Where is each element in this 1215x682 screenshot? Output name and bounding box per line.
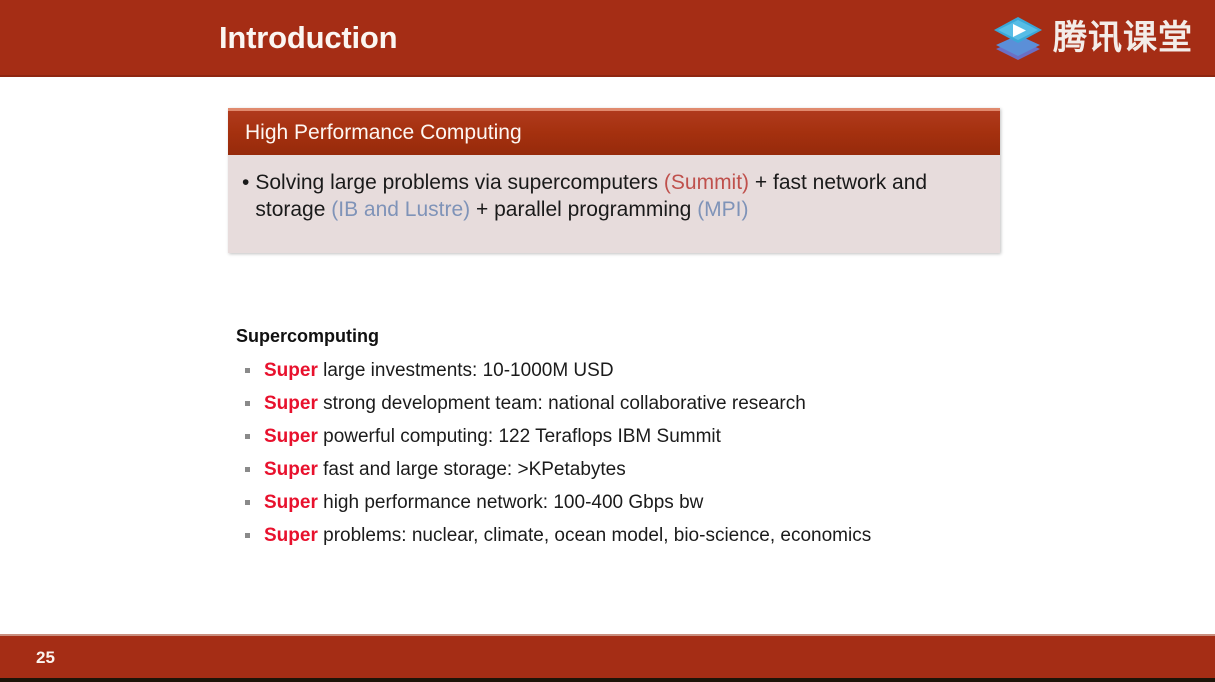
square-bullet-icon bbox=[236, 425, 264, 448]
list-item-text: Super problems: nuclear, climate, ocean … bbox=[264, 524, 871, 547]
brand-name: 腾讯课堂 bbox=[1053, 16, 1193, 60]
super-keyword: Super bbox=[264, 459, 318, 480]
slide: Introduction 腾讯课堂 High Performance Compu… bbox=[0, 0, 1215, 682]
list-item-rest: powerful computing: 122 Teraflops IBM Su… bbox=[318, 426, 721, 447]
slide-footer-bar: 25 bbox=[0, 634, 1215, 678]
list-item-rest: high performance network: 100-400 Gbps b… bbox=[318, 492, 704, 513]
square-bullet-icon bbox=[236, 359, 264, 382]
callout-text-part1: Solving large problems via supercomputer… bbox=[255, 171, 664, 194]
callout-bullet-item: • Solving large problems via supercomput… bbox=[242, 169, 980, 223]
square-bullet-icon bbox=[236, 392, 264, 415]
supercomputing-section: Supercomputing Super large investments: … bbox=[236, 324, 996, 557]
page-title: Introduction bbox=[219, 16, 397, 60]
graduation-cap-play-icon bbox=[992, 13, 1044, 63]
callout-emphasis-mpi: (MPI) bbox=[697, 198, 748, 221]
callout-emphasis-ib-lustre: (IB and Lustre) bbox=[331, 198, 470, 221]
callout-title: High Performance Computing bbox=[245, 120, 522, 146]
super-keyword: Super bbox=[264, 393, 318, 414]
callout-bullet-text: Solving large problems via supercomputer… bbox=[255, 169, 980, 223]
list-item-rest: large investments: 10-1000M USD bbox=[318, 360, 614, 381]
list-item-rest: fast and large storage: >KPetabytes bbox=[318, 459, 626, 480]
list-item-text: Super large investments: 10-1000M USD bbox=[264, 359, 614, 382]
callout-emphasis-summit: (Summit) bbox=[664, 171, 749, 194]
list-item: Super strong development team: national … bbox=[236, 392, 996, 415]
super-keyword: Super bbox=[264, 525, 318, 546]
brand-logo: 腾讯课堂 bbox=[992, 9, 1193, 67]
footer-bottom-rule bbox=[0, 678, 1215, 682]
super-keyword: Super bbox=[264, 426, 318, 447]
list-item-text: Super high performance network: 100-400 … bbox=[264, 491, 703, 514]
super-keyword: Super bbox=[264, 492, 318, 513]
supercomputing-heading: Supercomputing bbox=[236, 324, 996, 348]
list-item: Super powerful computing: 122 Teraflops … bbox=[236, 425, 996, 448]
hpc-callout-box: High Performance Computing • Solving lar… bbox=[228, 108, 1000, 253]
page-number: 25 bbox=[36, 647, 55, 669]
square-bullet-icon bbox=[236, 524, 264, 547]
callout-body: • Solving large problems via supercomput… bbox=[228, 155, 1000, 253]
list-item-rest: strong development team: national collab… bbox=[318, 393, 806, 414]
square-bullet-icon bbox=[236, 491, 264, 514]
list-item-rest: problems: nuclear, climate, ocean model,… bbox=[318, 525, 871, 546]
list-item-text: Super fast and large storage: >KPetabyte… bbox=[264, 458, 626, 481]
list-item: Super high performance network: 100-400 … bbox=[236, 491, 996, 514]
list-item: Super problems: nuclear, climate, ocean … bbox=[236, 524, 996, 547]
slide-header-bar: Introduction 腾讯课堂 bbox=[0, 0, 1215, 77]
list-item-text: Super powerful computing: 122 Teraflops … bbox=[264, 425, 721, 448]
list-item-text: Super strong development team: national … bbox=[264, 392, 806, 415]
super-keyword: Super bbox=[264, 360, 318, 381]
bullet-dot-icon: • bbox=[242, 169, 255, 196]
callout-header: High Performance Computing bbox=[228, 108, 1000, 155]
callout-text-part3: + parallel programming bbox=[470, 198, 697, 221]
list-item: Super large investments: 10-1000M USD bbox=[236, 359, 996, 382]
square-bullet-icon bbox=[236, 458, 264, 481]
list-item: Super fast and large storage: >KPetabyte… bbox=[236, 458, 996, 481]
